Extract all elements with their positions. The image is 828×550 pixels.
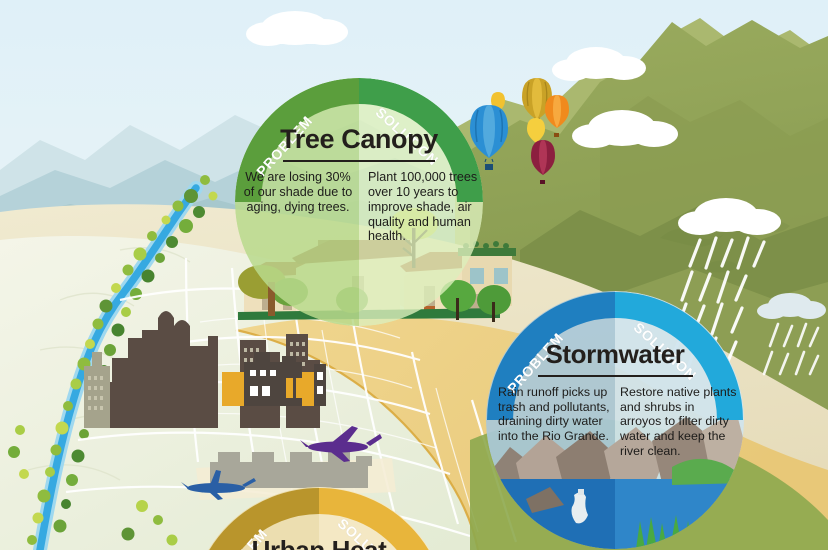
urban-heat-title: Urban Heat [190,535,448,550]
tree-canopy-rule [283,160,435,162]
airport-terminal [210,452,372,488]
tree-solution-text: Plant 100,000 trees over 10 years to imp… [368,170,480,244]
storm-problem-text: Rain runoff picks up trash and pollutant… [492,385,610,444]
stormwater-rule [538,375,693,377]
tree-canopy-title: Tree Canopy [235,124,483,155]
tree-problem-text: We are losing 30% of our shade due to ag… [243,170,353,215]
panel-tree-canopy: PROBLEM SOLUTION Tree Canopy We are losi… [235,78,483,326]
panel-stormwater: PROBLEM SOLUTION Stormwater Rain runoff … [486,291,744,549]
panel-urban-heat: PROBLEM SOLUTION Urban Heat [190,487,448,550]
storm-solution-text: Restore native plants and shrubs in arro… [620,385,738,458]
stormwater-title: Stormwater [486,339,744,370]
infographic-canvas: PROBLEM SOLUTION Tree Canopy We are losi… [0,0,828,550]
